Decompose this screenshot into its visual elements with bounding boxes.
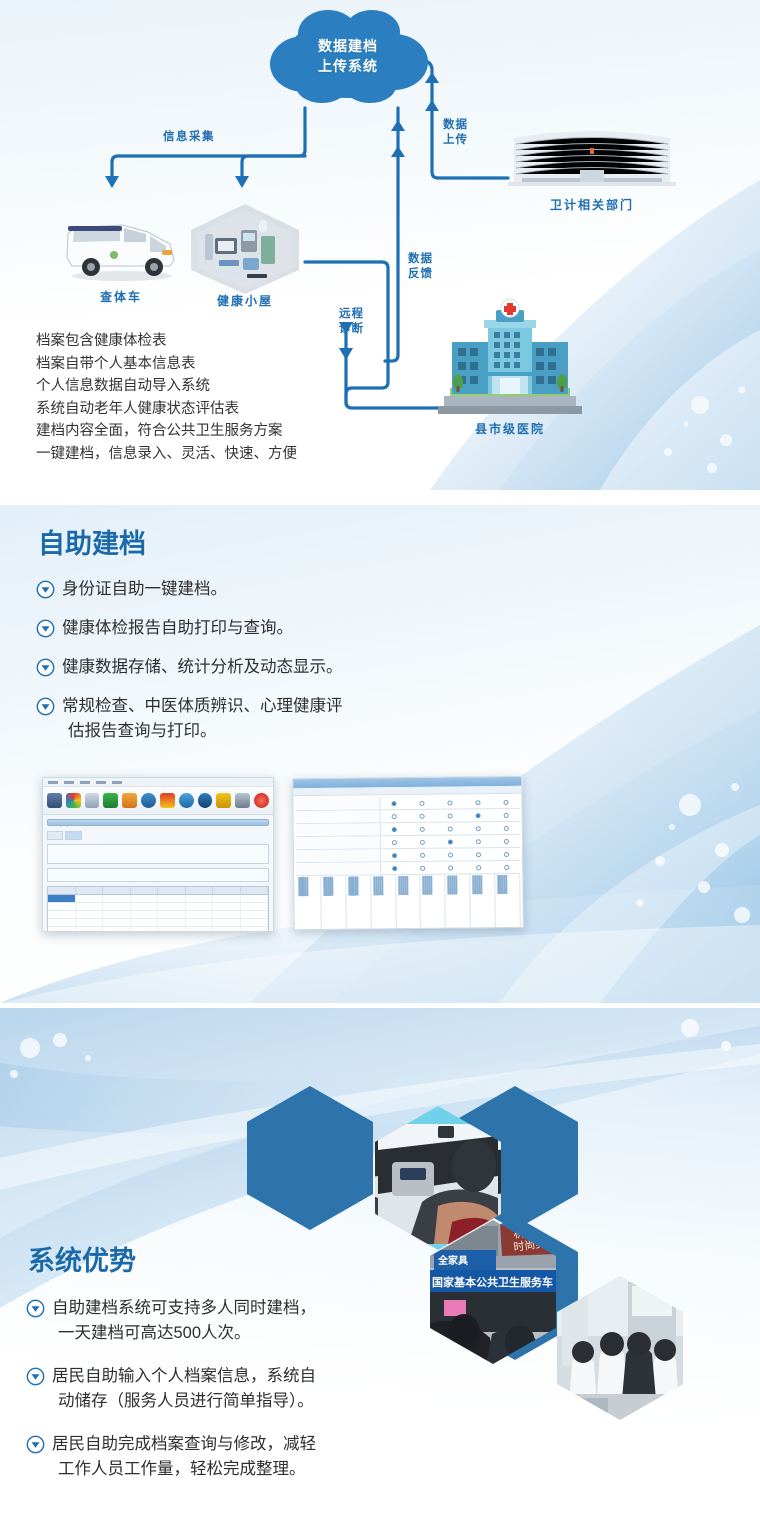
chevron-down-circle-icon: [36, 580, 55, 599]
self-service-feature-list: 身份证自助一键建档。 健康体检报告自助打印与查询。 健康数据存储、统计分析及动态…: [36, 577, 506, 758]
list-item: 健康体检报告自助打印与查询。: [36, 616, 506, 641]
flow-feature-item: 个人信息数据自动导入系统: [36, 375, 436, 398]
grid-header: [48, 887, 268, 895]
toolbar-icon[interactable]: [235, 793, 250, 808]
advantages-title: 系统优势: [28, 1246, 136, 1276]
toolbar-icon[interactable]: [160, 793, 175, 808]
self-service-title: 自助建档: [38, 529, 146, 559]
edge-label-info-collect: 信息采集: [163, 130, 215, 145]
window-titlebar: [47, 819, 269, 826]
node-caption-county-hospital: 县市级医院: [430, 420, 590, 437]
flow-diagram-section: 数据建档 上传系统 信息采集 数据 上传 数据 反馈 远程 诊断 查体车: [0, 0, 760, 490]
toolbar-icon[interactable]: [103, 793, 118, 808]
advantages-feature-list: 自助建档系统可支持多人同时建档， 一天建档可高达500人次。 居民自助输入个人档…: [26, 1296, 456, 1496]
list-item: 居民自助输入个人档案信息，系统自 动储存（服务人员进行简单指导）。: [26, 1364, 456, 1414]
toolbar-icon[interactable]: [85, 793, 100, 808]
table-row[interactable]: [48, 927, 268, 932]
data-grid[interactable]: [47, 886, 269, 932]
matrix-column[interactable]: [321, 876, 346, 930]
form-body: [293, 794, 522, 929]
constitution-matrix[interactable]: [296, 874, 521, 930]
list-item-label: 健康数据存储、统计分析及动态显示。: [62, 658, 343, 676]
matrix-column[interactable]: [396, 875, 421, 929]
list-item-label-line2: 一天建档可高达500人次。: [52, 1321, 316, 1346]
toolbar-icon[interactable]: [198, 793, 213, 808]
health-authority-building-image: [508, 122, 676, 190]
list-item-label: 身份证自助一键建档。: [62, 580, 227, 598]
cloud-node: 数据建档 上传系统: [262, 6, 434, 112]
matrix-column[interactable]: [495, 874, 520, 928]
toolbar-icon[interactable]: [66, 793, 81, 808]
flow-feature-item: 档案包含健康体检表: [36, 330, 436, 353]
table-row[interactable]: [48, 911, 268, 919]
list-item-label-line2: 估报告查询与打印。: [62, 719, 343, 744]
matrix-column[interactable]: [446, 874, 471, 928]
app-menubar[interactable]: [43, 778, 273, 787]
matrix-column[interactable]: [470, 874, 495, 928]
toolbar-icon[interactable]: [216, 793, 231, 808]
list-item-label-line2: 工作人员工作量，轻松完成整理。: [52, 1457, 316, 1482]
list-item-label: 居民自助完成档案查询与修改，减轻: [52, 1435, 316, 1453]
query-panel[interactable]: [47, 868, 269, 882]
edge-label-data-feedback: 数据 反馈: [408, 252, 433, 282]
matrix-column[interactable]: [296, 876, 321, 930]
advantages-section: 杭 州 时尚美发 全家具 国家基本公共卫生服务车: [0, 1008, 760, 1513]
list-item-label: 居民自助输入个人档案信息，系统自: [52, 1367, 316, 1385]
matrix-column[interactable]: [421, 875, 446, 929]
app-workspace: [43, 815, 273, 931]
flow-feature-list: 档案包含健康体检表 档案自带个人基本信息表 个人信息数据自动导入系统 系统自动老…: [36, 330, 436, 465]
section-divider-1: [0, 490, 760, 505]
list-item: 身份证自助一键建档。: [36, 577, 506, 602]
list-item: 健康数据存储、统计分析及动态显示。: [36, 655, 506, 680]
county-hospital-image: [430, 296, 590, 416]
table-row[interactable]: [48, 903, 268, 911]
node-caption-health-hut: 健康小屋: [185, 292, 305, 309]
cloud-label: 数据建档 上传系统: [262, 36, 434, 76]
screenshot-archive-management-app[interactable]: [42, 777, 274, 932]
tab-active[interactable]: [65, 831, 81, 840]
flow-feature-item: 档案自带个人基本信息表: [36, 353, 436, 376]
chevron-down-circle-icon: [26, 1367, 45, 1386]
screenshot-elderly-health-assessment-form[interactable]: [292, 776, 524, 930]
chevron-down-circle-icon: [36, 619, 55, 638]
table-row[interactable]: [48, 895, 268, 903]
flow-feature-item: 一键建档，信息录入、灵活、快速、方便: [36, 443, 436, 466]
hex-solid-left: [247, 1086, 373, 1230]
matrix-column[interactable]: [371, 875, 396, 929]
list-item-label: 常规检查、中医体质辨识、心理健康评: [62, 697, 343, 715]
node-caption-inspection-van: 查体车: [62, 288, 180, 305]
filter-panel[interactable]: [47, 844, 269, 864]
matrix-column[interactable]: [346, 875, 371, 929]
toolbar-icon[interactable]: [122, 793, 137, 808]
toolbar-icon[interactable]: [179, 793, 194, 808]
list-item-label: 自助建档系统可支持多人同时建档，: [52, 1299, 316, 1317]
app-toolbar[interactable]: [43, 787, 273, 815]
list-item-label-line2: 动储存（服务人员进行简单指导）。: [52, 1389, 316, 1414]
flow-feature-item: 系统自动老年人健康状态评估表: [36, 398, 436, 421]
list-item: 自助建档系统可支持多人同时建档， 一天建档可高达500人次。: [26, 1296, 456, 1346]
toolbar-icon[interactable]: [254, 793, 269, 808]
chevron-down-circle-icon: [26, 1299, 45, 1318]
chevron-down-circle-icon: [26, 1435, 45, 1454]
list-item-label: 健康体检报告自助打印与查询。: [62, 619, 293, 637]
toolbar-icon[interactable]: [141, 793, 156, 808]
edge-label-data-upload: 数据 上传: [443, 118, 468, 148]
tab[interactable]: [47, 831, 63, 840]
health-hut-image: [185, 200, 305, 298]
tab-strip[interactable]: [47, 831, 269, 840]
inspection-van-image: [62, 210, 180, 282]
toolbar-icon[interactable]: [47, 793, 62, 808]
list-item: 居民自助完成档案查询与修改，减轻 工作人员工作量，轻松完成整理。: [26, 1432, 456, 1482]
table-row[interactable]: [48, 919, 268, 927]
chevron-down-circle-icon: [36, 697, 55, 716]
node-caption-health-authority: 卫计相关部门: [508, 196, 676, 213]
chevron-down-circle-icon: [36, 658, 55, 677]
list-item: 常规检查、中医体质辨识、心理健康评 估报告查询与打印。: [36, 694, 506, 744]
flow-feature-item: 建档内容全面，符合公共卫生服务方案: [36, 420, 436, 443]
